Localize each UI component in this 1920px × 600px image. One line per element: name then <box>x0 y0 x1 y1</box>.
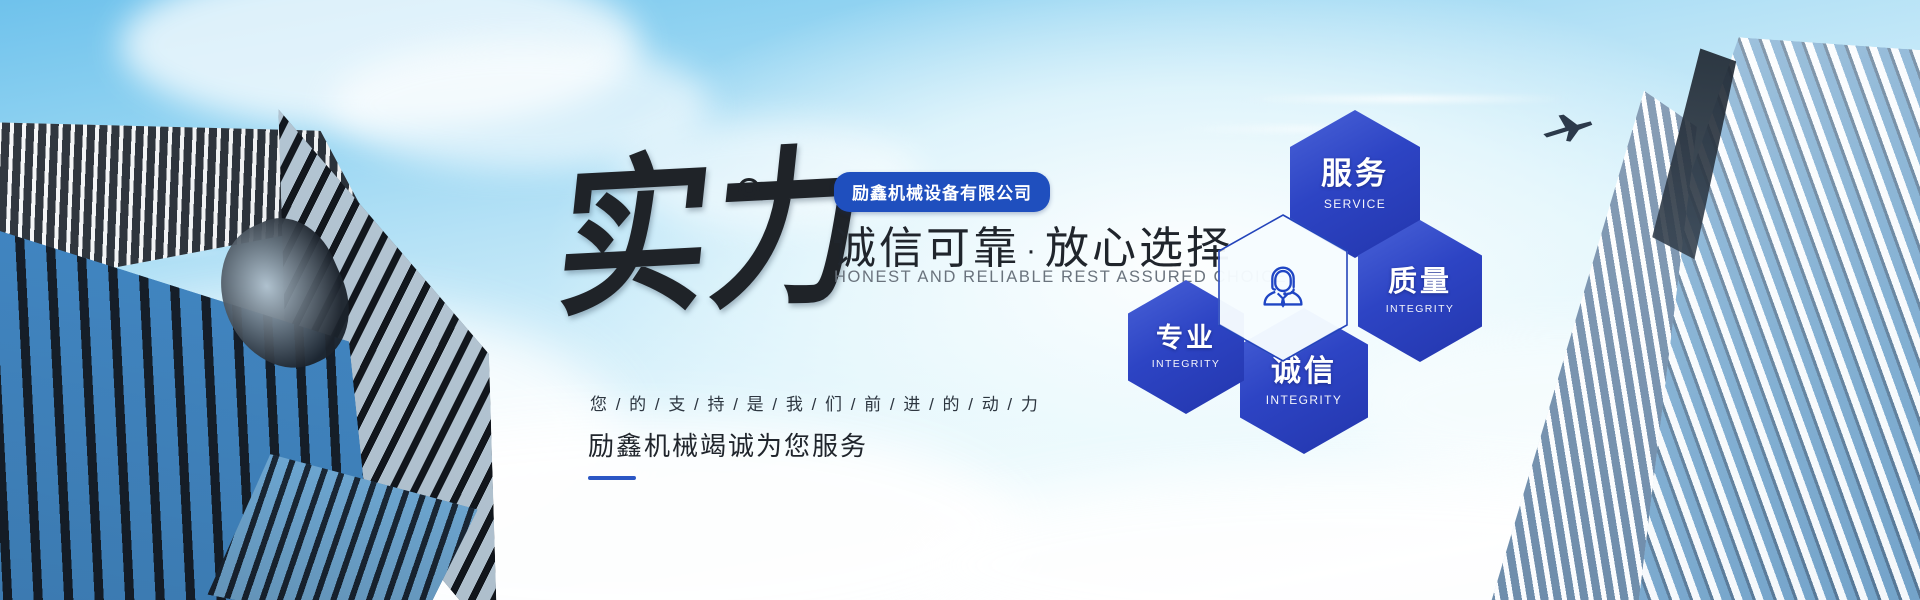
accent-underline <box>588 476 636 480</box>
hexagon-cluster: 服务 SERVICE 质量 INTEGRITY 诚信 INTEGRITY 专业 … <box>1110 110 1530 510</box>
calligraphy-title: 实力 <box>550 142 874 329</box>
hero-banner: 实力 励鑫机械设备有限公司 诚信可靠·放心选择 HONEST AND RELIA… <box>0 0 1920 600</box>
subline-support: 您 / 的 / 支 / 持 / 是 / 我 / 们 / 前 / 进 / 的 / … <box>590 390 1040 415</box>
subline-service: 励鑫机械竭诚为您服务 <box>588 426 868 463</box>
customer-service-agent-icon <box>1252 257 1314 319</box>
slogan-separator-dot: · <box>1020 234 1045 267</box>
hexagon-professional-label-en: INTEGRITY <box>1152 358 1221 370</box>
hexagon-professional-label-cn: 专业 <box>1156 324 1216 354</box>
hexagon-integrity-label-en: INTEGRITY <box>1266 393 1343 407</box>
airplane-icon <box>1540 112 1594 146</box>
company-name-badge: 励鑫机械设备有限公司 <box>834 172 1050 212</box>
calligraphy-dot-marker <box>738 178 760 200</box>
slogan-cn-left: 诚信可靠 <box>832 224 1020 273</box>
hexagon-quality-label-cn: 质量 <box>1388 267 1452 299</box>
hexagon-service-label-cn: 服务 <box>1321 157 1389 191</box>
hexagon-service-label-en: SERVICE <box>1324 197 1386 211</box>
hexagon-quality-label-en: INTEGRITY <box>1386 303 1455 315</box>
